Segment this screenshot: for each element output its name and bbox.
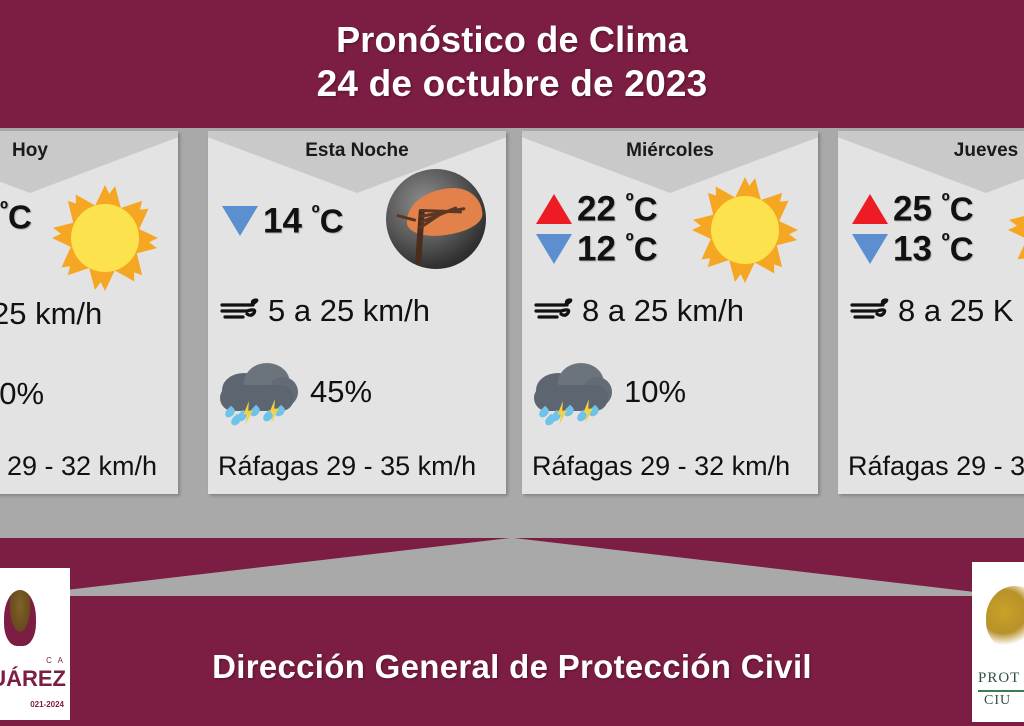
thunderstorm-rain-icon [218, 359, 302, 425]
temperature-value: ºC [0, 196, 32, 238]
forecast-card-list: Hoy ºC 25 km/h 40% s 29 - 32 km/h Est [0, 131, 1024, 497]
temp-number: 22 [577, 190, 616, 229]
night-windy-tree-moon-icon [386, 169, 490, 273]
logo-left-years: 021-2024 [0, 700, 70, 709]
logo-right-line1: PROT [978, 670, 1020, 687]
footer-chevron-left [0, 538, 512, 598]
wind-row: 8 a 25 K [850, 293, 1013, 329]
wind-gusts-text: Ráfagas 29 - 35 km/h [218, 451, 476, 482]
wind-speed-text: 8 a 25 K [898, 293, 1013, 329]
temperature-row: ºC [0, 189, 32, 245]
temp-number: 12 [577, 230, 616, 269]
temperature-value: 25 ºC [893, 188, 974, 230]
card-day-label: Miércoles [522, 140, 818, 162]
forecast-card-jueves[interactable]: Jueves 25 ºC 13 ºC [838, 131, 1024, 494]
precipitation-row: 40% [0, 376, 44, 412]
temperature-value: 12 ºC [577, 228, 658, 270]
sun-rays [1008, 177, 1024, 283]
wind-gusts-text: s 29 - 32 km/h [0, 451, 157, 482]
temperature-row: 12 ºC [536, 229, 658, 269]
sun-disc [71, 204, 139, 272]
header-banner: Pronóstico de Clima 24 de octubre de 202… [0, 0, 1024, 128]
max-temp-triangle-icon [852, 194, 888, 224]
min-temp-triangle-icon [852, 234, 888, 264]
temperature-row: 13 ºC [852, 229, 974, 269]
temperature-group: 22 ºC 12 ºC [536, 189, 658, 269]
temperature-row: 14 ºC [222, 193, 344, 249]
card-day-label: Jueves [838, 140, 1024, 162]
wind-icon [850, 294, 896, 328]
thunderstorm-rain-icon [532, 359, 616, 425]
temperature-group: 14 ºC [222, 193, 344, 249]
forecast-card-miercoles[interactable]: Miércoles 22 ºC 12 ºC [522, 131, 818, 494]
wind-gusts-text: Ráfagas 29 - 32 km/h [532, 451, 790, 482]
wind-row: 8 a 25 km/h [534, 293, 744, 329]
forecast-card-hoy[interactable]: Hoy ºC 25 km/h 40% s 29 - 32 km/h [0, 131, 178, 494]
wind-speed-text: 8 a 25 km/h [582, 293, 744, 329]
temperature-group: ºC [0, 189, 32, 245]
temperature-value: 14 ºC [263, 200, 344, 242]
page-title: Pronóstico de Clima [0, 0, 1024, 62]
precipitation-chance-text: 45% [310, 374, 372, 410]
sun-icon [690, 175, 800, 285]
forecast-card-esta-noche[interactable]: Esta Noche 14 ºC [208, 131, 506, 494]
precipitation-chance-text: 10% [624, 374, 686, 410]
max-temp-triangle-icon [536, 194, 572, 224]
sun-disc [711, 196, 779, 264]
temp-number: 14 [263, 202, 302, 241]
wind-speed-text: 25 km/h [0, 296, 102, 332]
logo-right-line2: CIU [984, 693, 1011, 709]
sun-icon [50, 183, 160, 293]
footer-chevron-right [512, 538, 1024, 598]
wind-icon [220, 294, 266, 328]
logo-left-emblem-icon [4, 590, 36, 646]
precipitation-row: 10% [532, 359, 686, 425]
min-temp-triangle-icon [222, 206, 258, 236]
logo-right-divider [978, 690, 1024, 692]
wind-row: 5 a 25 km/h [220, 293, 430, 329]
page-subtitle-date: 24 de octubre de 2023 [0, 62, 1024, 106]
temp-number: 25 [893, 190, 932, 229]
precipitation-chance-text: 40% [0, 376, 44, 412]
min-temp-triangle-icon [536, 234, 572, 264]
temperature-group: 25 ºC 13 ºC [852, 189, 974, 269]
wind-icon [534, 294, 580, 328]
temperature-value: 13 ºC [893, 228, 974, 270]
precipitation-row: 45% [218, 359, 372, 425]
logo-proteccion-civil: PROT CIU [972, 562, 1024, 722]
sun-icon [1006, 175, 1024, 285]
wind-speed-text: 5 a 25 km/h [268, 293, 430, 329]
temperature-row: 22 ºC [536, 189, 658, 229]
temperature-value: 22 ºC [577, 188, 658, 230]
logo-right-emblem-icon [986, 586, 1024, 650]
wind-row: 25 km/h [0, 296, 102, 332]
wind-gusts-text: Ráfagas 29 - 3 [848, 451, 1024, 482]
footer-title: Dirección General de Protección Civil [0, 648, 1024, 686]
logo-left-name: UÁREZ [0, 666, 70, 692]
temp-number: 13 [893, 230, 932, 269]
logo-benito-juarez: C A UÁREZ 021-2024 [0, 568, 70, 720]
logo-left-subtitle: C A [0, 656, 70, 665]
temperature-row: 25 ºC [852, 189, 974, 229]
card-day-label: Esta Noche [208, 140, 506, 162]
card-day-label: Hoy [0, 140, 178, 162]
